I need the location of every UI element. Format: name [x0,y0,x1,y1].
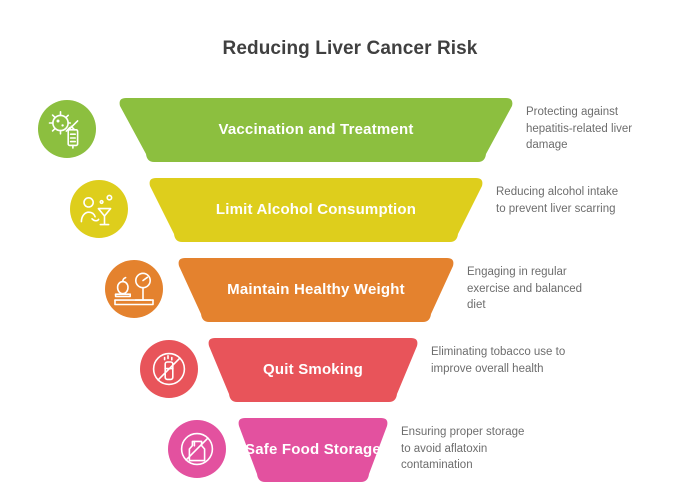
person-cocktail-icon [70,180,128,238]
funnel-band-label: Limit Alcohol Consumption [210,201,422,219]
no-smoking-icon [140,340,198,398]
funnel-band-label: Safe Food Storage [239,441,387,459]
no-container-icon [168,420,226,478]
healthy-weight-icon [105,260,163,318]
funnel-band[interactable]: Safe Food Storage [237,418,389,482]
alcohol-icon [70,180,128,238]
funnel-band[interactable]: Vaccination and Treatment [118,98,514,162]
funnel-stage: Quit SmokingEliminating tobacco use to i… [0,332,700,412]
virus-syringe-icon [38,100,96,158]
funnel-stage-description: Eliminating tobacco use to improve overa… [431,344,575,377]
funnel-stage-description: Ensuring proper storage to avoid aflatox… [401,424,537,474]
funnel-stage-description: Engaging in regular exercise and balance… [467,264,593,314]
vaccination-icon [38,100,96,158]
funnel-stage-description: Reducing alcohol intake to prevent liver… [496,184,624,217]
funnel-stage: Safe Food StorageEnsuring proper storage… [0,412,700,492]
funnel-band-label: Quit Smoking [257,361,369,379]
funnel-stage: Maintain Healthy WeightEngaging in regul… [0,252,700,332]
page-title: Reducing Liver Cancer Risk [0,38,700,60]
funnel-band-label: Maintain Healthy Weight [221,281,411,299]
funnel-band[interactable]: Maintain Healthy Weight [177,258,455,322]
funnel-band-label: Vaccination and Treatment [212,121,419,139]
safe-food-storage-icon [168,420,226,478]
funnel-diagram: Vaccination and TreatmentProtecting agai… [0,92,700,492]
funnel-stage-description: Protecting against hepatitis-related liv… [526,104,638,154]
apple-scale-icon [105,260,163,318]
quit-smoking-icon [140,340,198,398]
funnel-band[interactable]: Limit Alcohol Consumption [148,178,484,242]
funnel-stage: Vaccination and TreatmentProtecting agai… [0,92,700,172]
funnel-band[interactable]: Quit Smoking [207,338,419,402]
funnel-stage: Limit Alcohol ConsumptionReducing alcoho… [0,172,700,252]
